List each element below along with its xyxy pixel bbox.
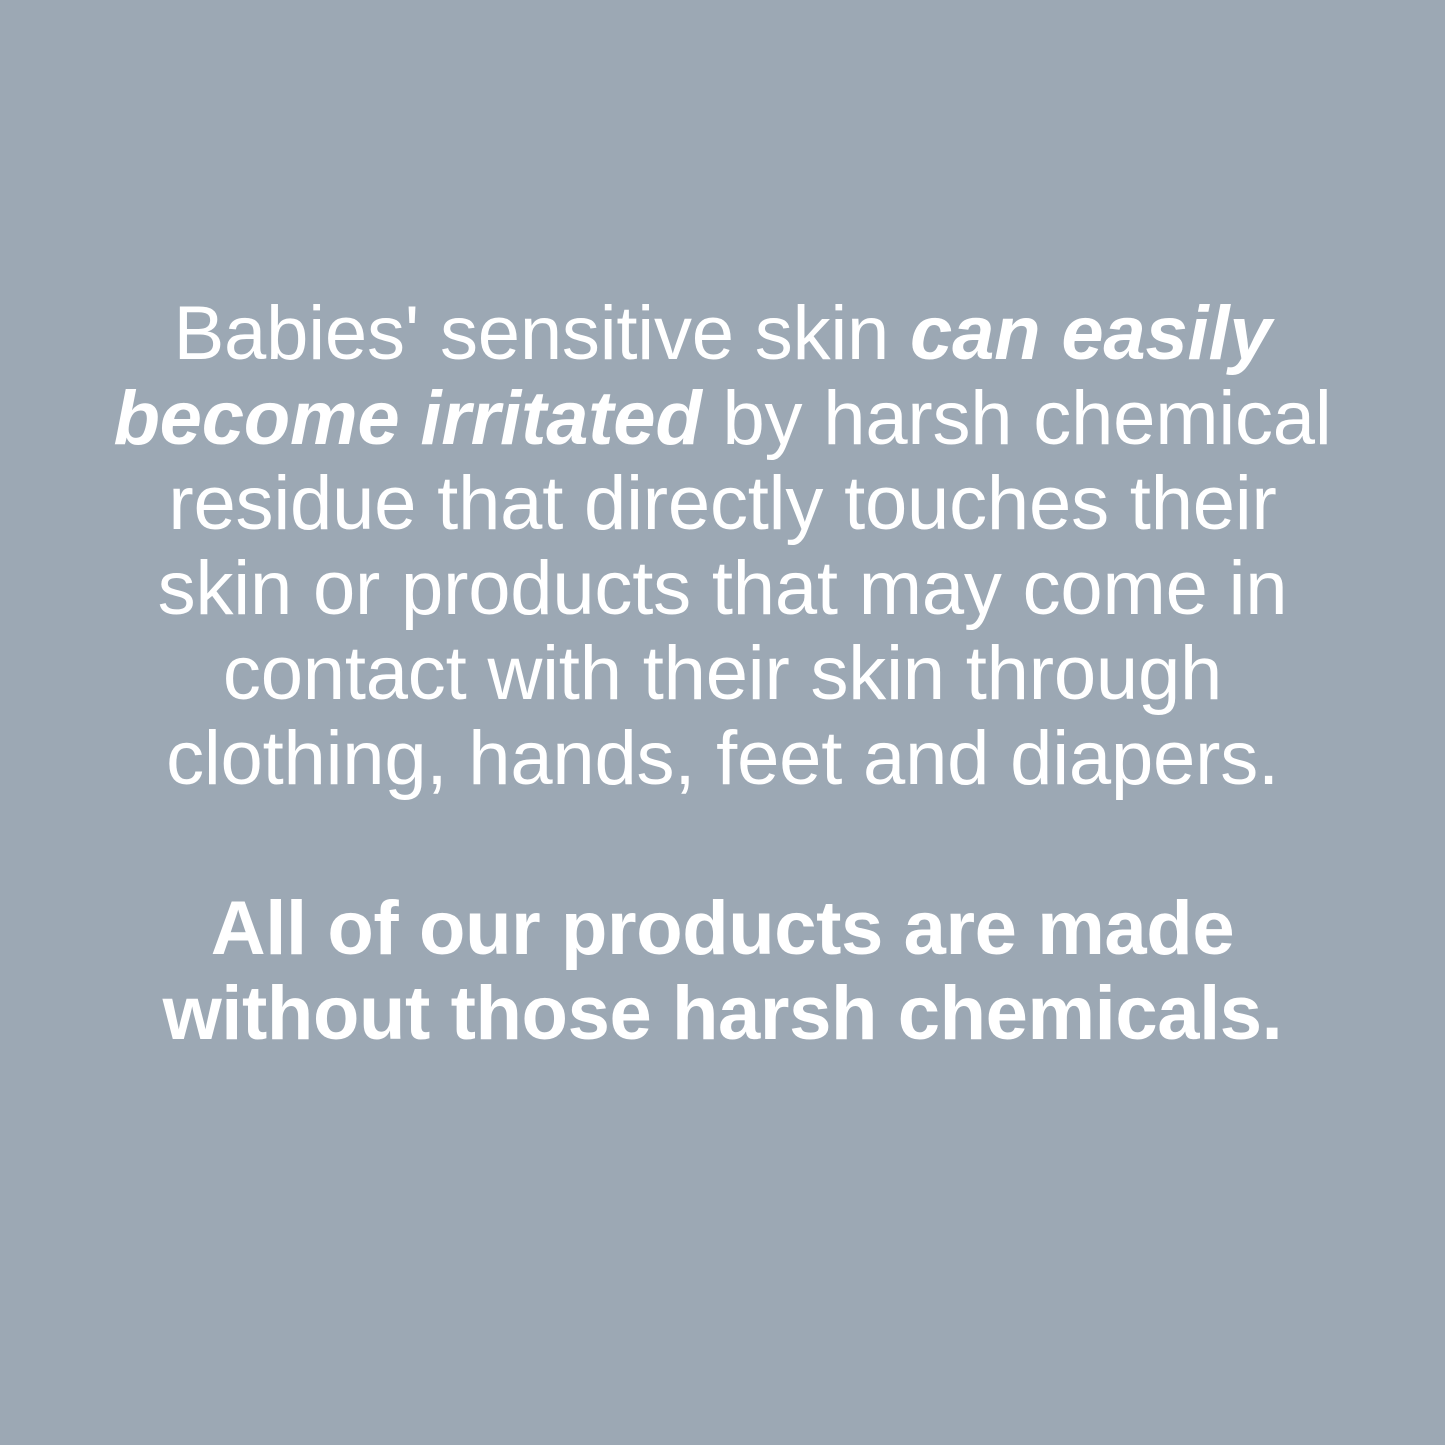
- closing-paragraph: All of our products are made without tho…: [92, 886, 1354, 1056]
- closing-paragraph-block: All of our products are made without tho…: [92, 886, 1354, 1056]
- paragraph-spacer: [0, 801, 1445, 886]
- body-paragraph: Babies' sensitive skin can easily become…: [92, 291, 1354, 801]
- body-paragraph-block: Babies' sensitive skin can easily become…: [92, 291, 1354, 801]
- text-content-group: Babies' sensitive skin can easily become…: [0, 291, 1445, 1056]
- body-lead-text: Babies' sensitive skin: [174, 291, 910, 376]
- promo-graphic-canvas: Babies' sensitive skin can easily become…: [0, 0, 1445, 1445]
